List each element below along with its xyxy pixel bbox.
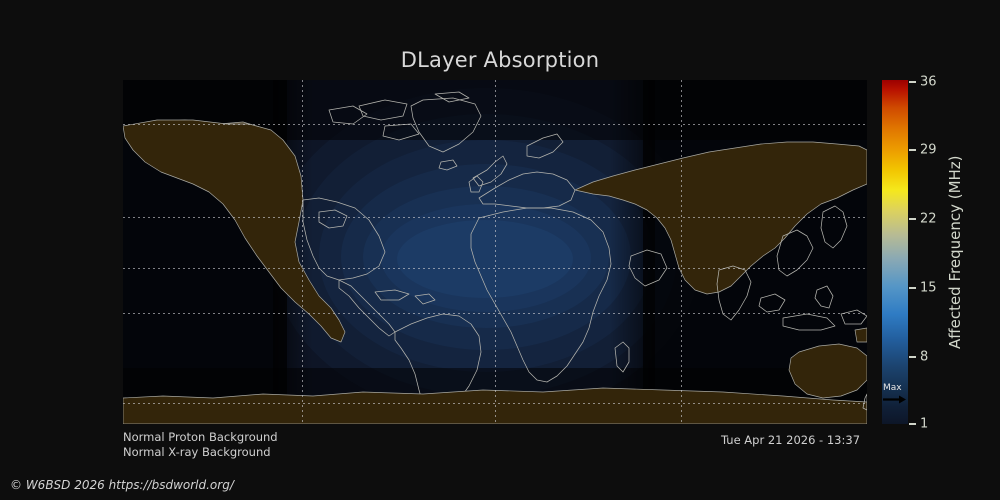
map-plot-area[interactable] (123, 80, 867, 424)
gridline-lon-prime (495, 80, 496, 424)
xray-background-status: Normal X-ray Background (123, 445, 271, 459)
proton-background-status: Normal Proton Background (123, 430, 278, 444)
colorbar-tick-1 (909, 423, 916, 425)
colorbar-axis-title: Affected Frequency (MHz) (944, 80, 966, 424)
colorbar-label-22: 22 (920, 212, 937, 227)
copyright-label: © W6BSD 2026 https://bsdworld.org/ (10, 478, 234, 492)
colorbar-label-36: 36 (920, 75, 937, 90)
colorbar-tick-36 (909, 81, 916, 83)
colorbar-label-1: 1 (920, 417, 928, 432)
gridline-lon-west90 (302, 80, 303, 424)
colorbar-label-15: 15 (920, 281, 937, 296)
page-title: DLayer Absorption (0, 48, 1000, 72)
colorbar-tick-29 (909, 149, 916, 151)
colorbar-gradient (882, 80, 908, 424)
colorbar[interactable]: 36 29 22 15 8 1 Max (882, 80, 908, 424)
dlayer-absorption-screenshot: DLayer Absorption (0, 0, 1000, 500)
colorbar-tick-8 (909, 356, 916, 358)
colorbar-tick-15 (909, 287, 916, 289)
right-arrow-icon (883, 395, 907, 404)
timestamp-label: Tue Apr 21 2026 - 13:37 (721, 433, 860, 447)
colorbar-tick-22 (909, 218, 916, 220)
colorbar-max-marker: Max (882, 383, 908, 413)
colorbar-label-29: 29 (920, 143, 937, 158)
colorbar-max-label: Max (883, 383, 902, 393)
colorbar-label-8: 8 (920, 350, 928, 365)
gridline-lon-east90 (681, 80, 682, 424)
